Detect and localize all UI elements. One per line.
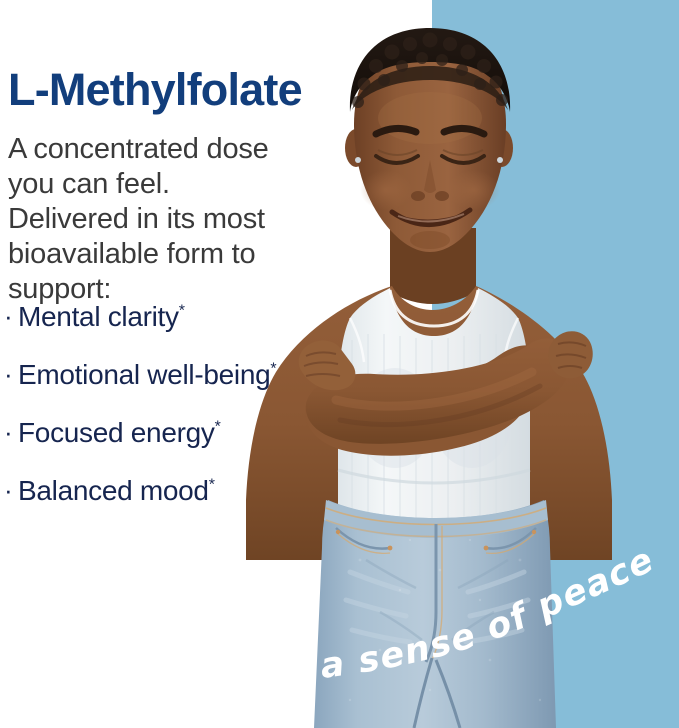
product-description: A concentrated dose you can feel. Delive… [8,132,276,307]
page-title: L-Methylfolate [8,66,302,113]
model-photo [240,0,679,728]
bullet-dot-icon: · [4,300,18,332]
bullet-dot-icon: · [4,416,18,448]
benefit-list: · Mental clarity* · Emotional well-being… [4,300,300,532]
list-item: · Emotional well-being* [4,358,300,392]
footnote-marker: * [209,477,215,494]
footnote-marker: * [215,419,221,436]
benefit-label: Focused energy* [18,416,300,450]
bullet-dot-icon: · [4,474,18,506]
footnote-marker: * [270,361,276,378]
benefit-label: Balanced mood* [18,474,300,508]
footnote-marker: * [179,303,185,320]
bullet-dot-icon: · [4,358,18,390]
list-item: · Mental clarity* [4,300,300,334]
benefit-label: Mental clarity* [18,300,300,334]
list-item: · Balanced mood* [4,474,300,508]
list-item: · Focused energy* [4,416,300,450]
benefit-label: Emotional well-being* [18,358,300,392]
promo-banner: L-Methylfolate A concentrated dose you c… [0,0,679,728]
